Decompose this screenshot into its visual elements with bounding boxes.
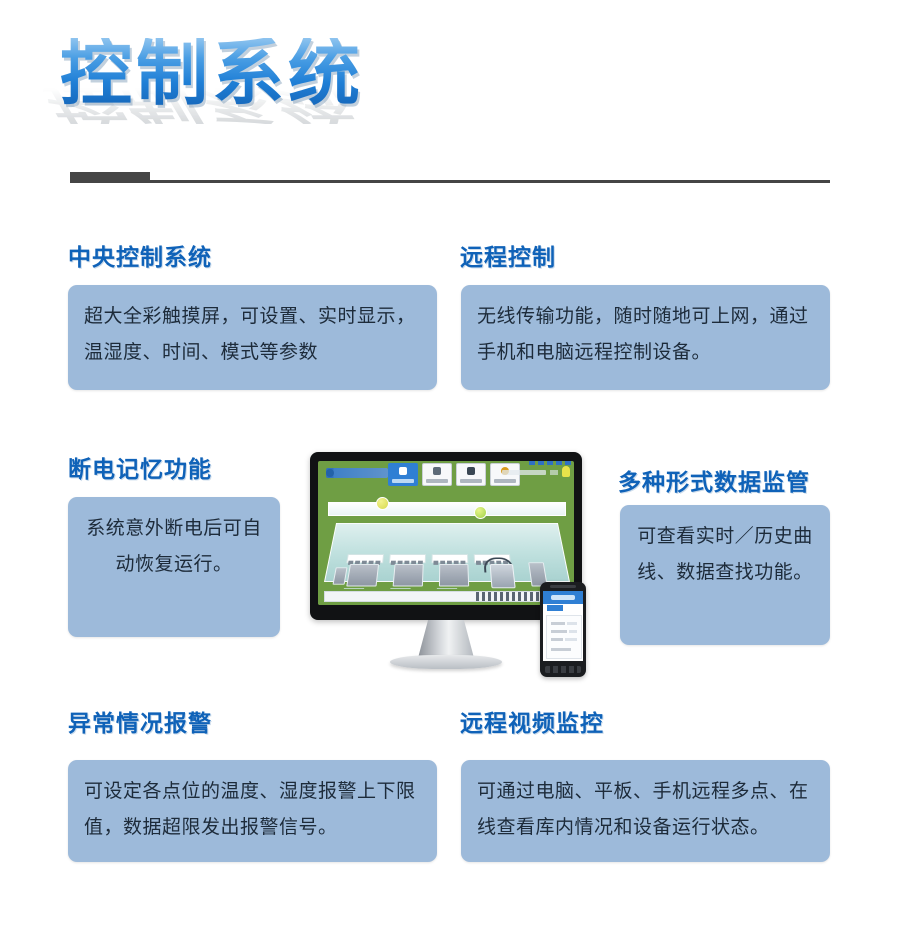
- feature-body-data-supervision: 可查看实时／历史曲线、数据查找功能。: [620, 505, 830, 645]
- feature-body-abnormal-alarm: 可设定各点位的温度、湿度报警上下限值，数据超限发出报警信号。: [68, 760, 437, 862]
- monitor-stand-base: [390, 655, 502, 669]
- status-ticker-bar: [324, 591, 570, 602]
- feature-body-power-memory: 系统意外断电后可自动恢复运行。: [68, 497, 280, 637]
- screen-bottom-area: [318, 589, 574, 605]
- feature-body-remote-video: 可通过电脑、平板、手机远程多点、在线查看库内情况和设备运行状态。: [461, 760, 830, 862]
- feature-heading-remote-control: 远程控制: [460, 238, 556, 272]
- sensor-dome-icon-2: [474, 506, 487, 519]
- header-divider: [70, 172, 830, 186]
- divider-block: [70, 172, 150, 183]
- window-buttons-icon: [529, 461, 571, 465]
- page-title: 控制系统: [60, 38, 364, 110]
- feature-heading-power-memory: 断电记忆功能: [68, 450, 212, 484]
- phone-speaker-grill-icon: [545, 666, 581, 673]
- control-panel-row-3: [432, 554, 469, 563]
- control-panel-row-2: [389, 554, 426, 563]
- software-tab-bar: [388, 463, 520, 486]
- software-toolbar: [318, 461, 574, 487]
- warehouse-3d-view[interactable]: [318, 488, 574, 583]
- warehouse-floor: [324, 523, 570, 582]
- smartphone: [540, 582, 586, 677]
- feature-heading-data-supervision: 多种形式数据监管: [618, 463, 810, 497]
- report-icon: [467, 467, 475, 475]
- phone-app-header: [543, 591, 583, 604]
- equipment-rack-2: [393, 564, 424, 586]
- phone-form-card: [546, 615, 582, 659]
- software-logo: [326, 468, 388, 478]
- tab-monitor[interactable]: [388, 463, 418, 486]
- divider-line: [150, 180, 830, 183]
- monitor-icon: [399, 467, 407, 475]
- tab-reports[interactable]: [456, 463, 486, 486]
- sensor-dome-icon-1: [376, 497, 389, 510]
- phone-active-tab[interactable]: [547, 605, 563, 611]
- feature-heading-abnormal-alarm: 异常情况报警: [68, 704, 212, 738]
- warehouse-back-wall: [328, 502, 566, 516]
- user-icon: [433, 467, 441, 475]
- toolbar-status-text: [502, 470, 546, 475]
- equipment-rack-4: [332, 567, 347, 584]
- infographic-page: 控制系统 控制系统 中央控制系统 超大全彩触摸屏，可设置、实时显示，温湿度、时间…: [0, 0, 900, 945]
- feature-body-remote-control: 无线传输功能，随时随地可上网，通过手机和电脑远程控制设备。: [461, 285, 830, 390]
- phone-earpiece-icon: [550, 585, 576, 588]
- equipment-rack-3: [439, 564, 469, 586]
- equipment-rack-1: [346, 564, 379, 586]
- device-illustration: [310, 452, 590, 677]
- monitor-stand-neck: [418, 620, 474, 658]
- page-title-block: 控制系统 控制系统: [60, 38, 480, 168]
- machine-unit: [490, 564, 516, 588]
- monitor-screen: [318, 461, 574, 605]
- toolbar-status-secondary: [550, 470, 558, 475]
- alarm-lamp-icon: [562, 466, 570, 477]
- phone-screen: [543, 591, 583, 661]
- feature-heading-remote-video: 远程视频监控: [460, 704, 604, 738]
- control-panel-row-1: [346, 554, 384, 563]
- tab-users[interactable]: [422, 463, 452, 486]
- feature-body-central-control: 超大全彩触摸屏，可设置、实时显示，温湿度、时间、模式等参数: [68, 285, 437, 390]
- feature-heading-central-control: 中央控制系统: [68, 238, 212, 272]
